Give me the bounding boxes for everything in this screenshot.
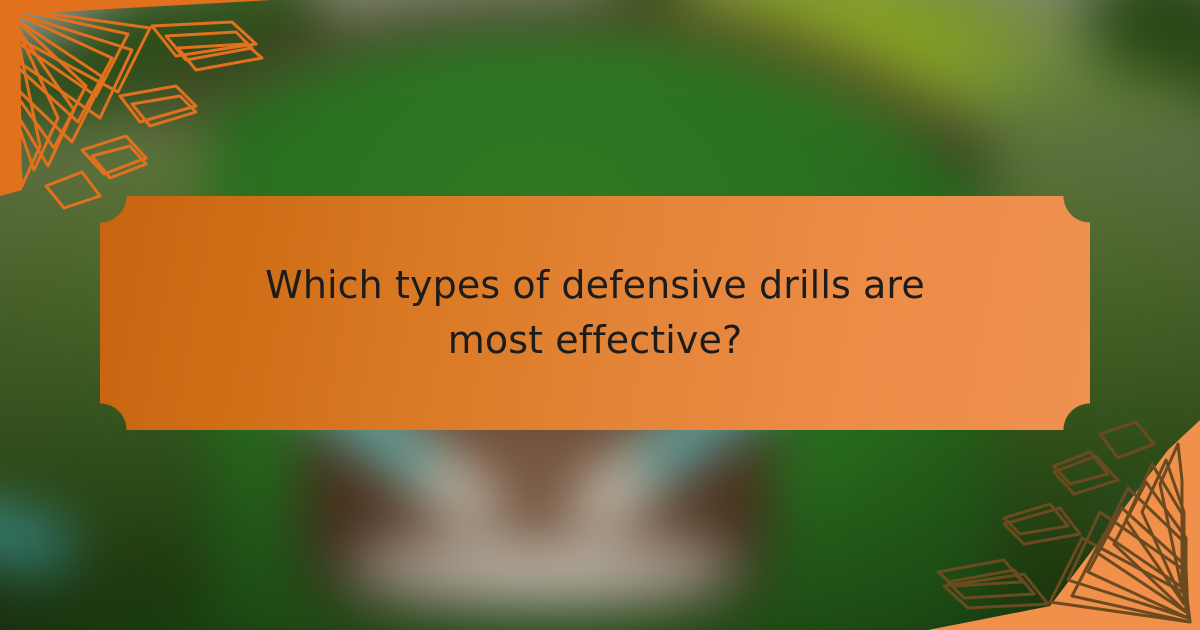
question-card: Which types of defensive drills are most… — [100, 196, 1090, 430]
screenshot-stage: Which types of defensive drills are most… — [0, 0, 1200, 630]
page-title: Which types of defensive drills are most… — [215, 258, 975, 369]
